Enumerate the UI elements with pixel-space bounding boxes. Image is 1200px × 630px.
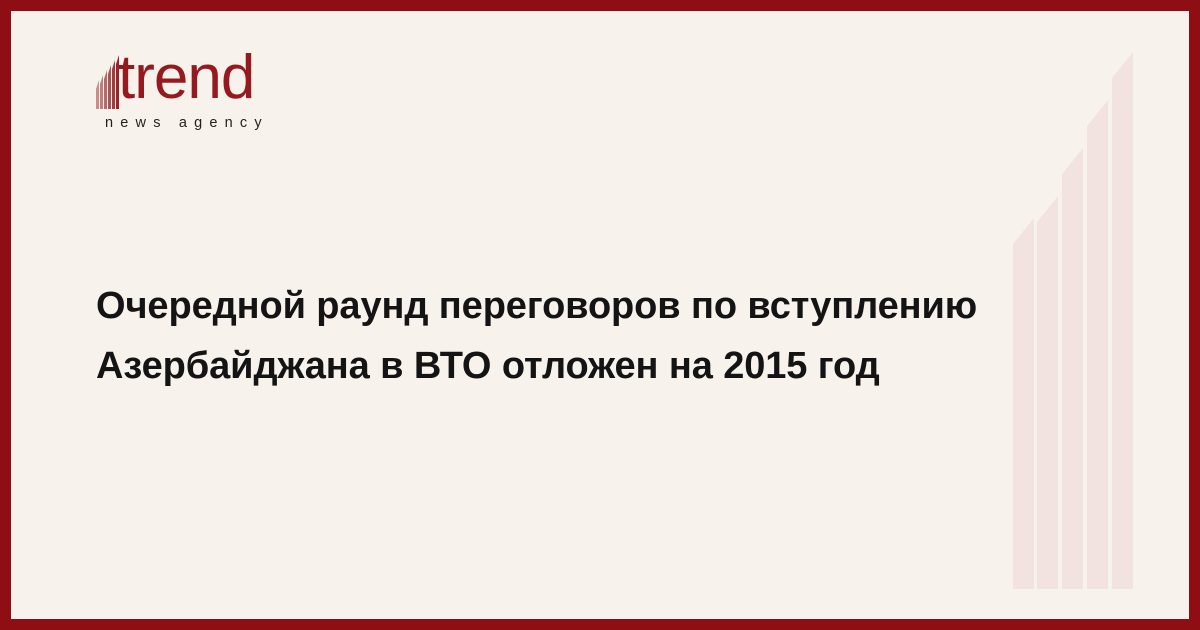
ascending-bars-watermark [999,11,1189,619]
card-inner-surface: trend news agency Очередной раунд перего… [11,11,1189,619]
watermark-bar [1112,78,1133,589]
headline-line: Очередной раунд переговоров по вступлени… [96,276,996,336]
headline-line: Азербайджана в ВТО отложен на 2015 год [96,336,996,396]
watermark-bar [1062,174,1083,589]
watermark-bar [1013,244,1034,589]
share-card: trend news agency Очередной раунд перего… [0,0,1200,630]
page-title: Очередной раунд переговоров по вступлени… [96,276,996,396]
logo-mark: trend [96,53,271,109]
watermark-bar [1037,222,1058,589]
trend-logo[interactable]: trend news agency [96,47,396,142]
logo-tagline: news agency [105,115,269,131]
logo-wordmark: trend [118,47,254,109]
watermark-bar [1087,126,1108,589]
